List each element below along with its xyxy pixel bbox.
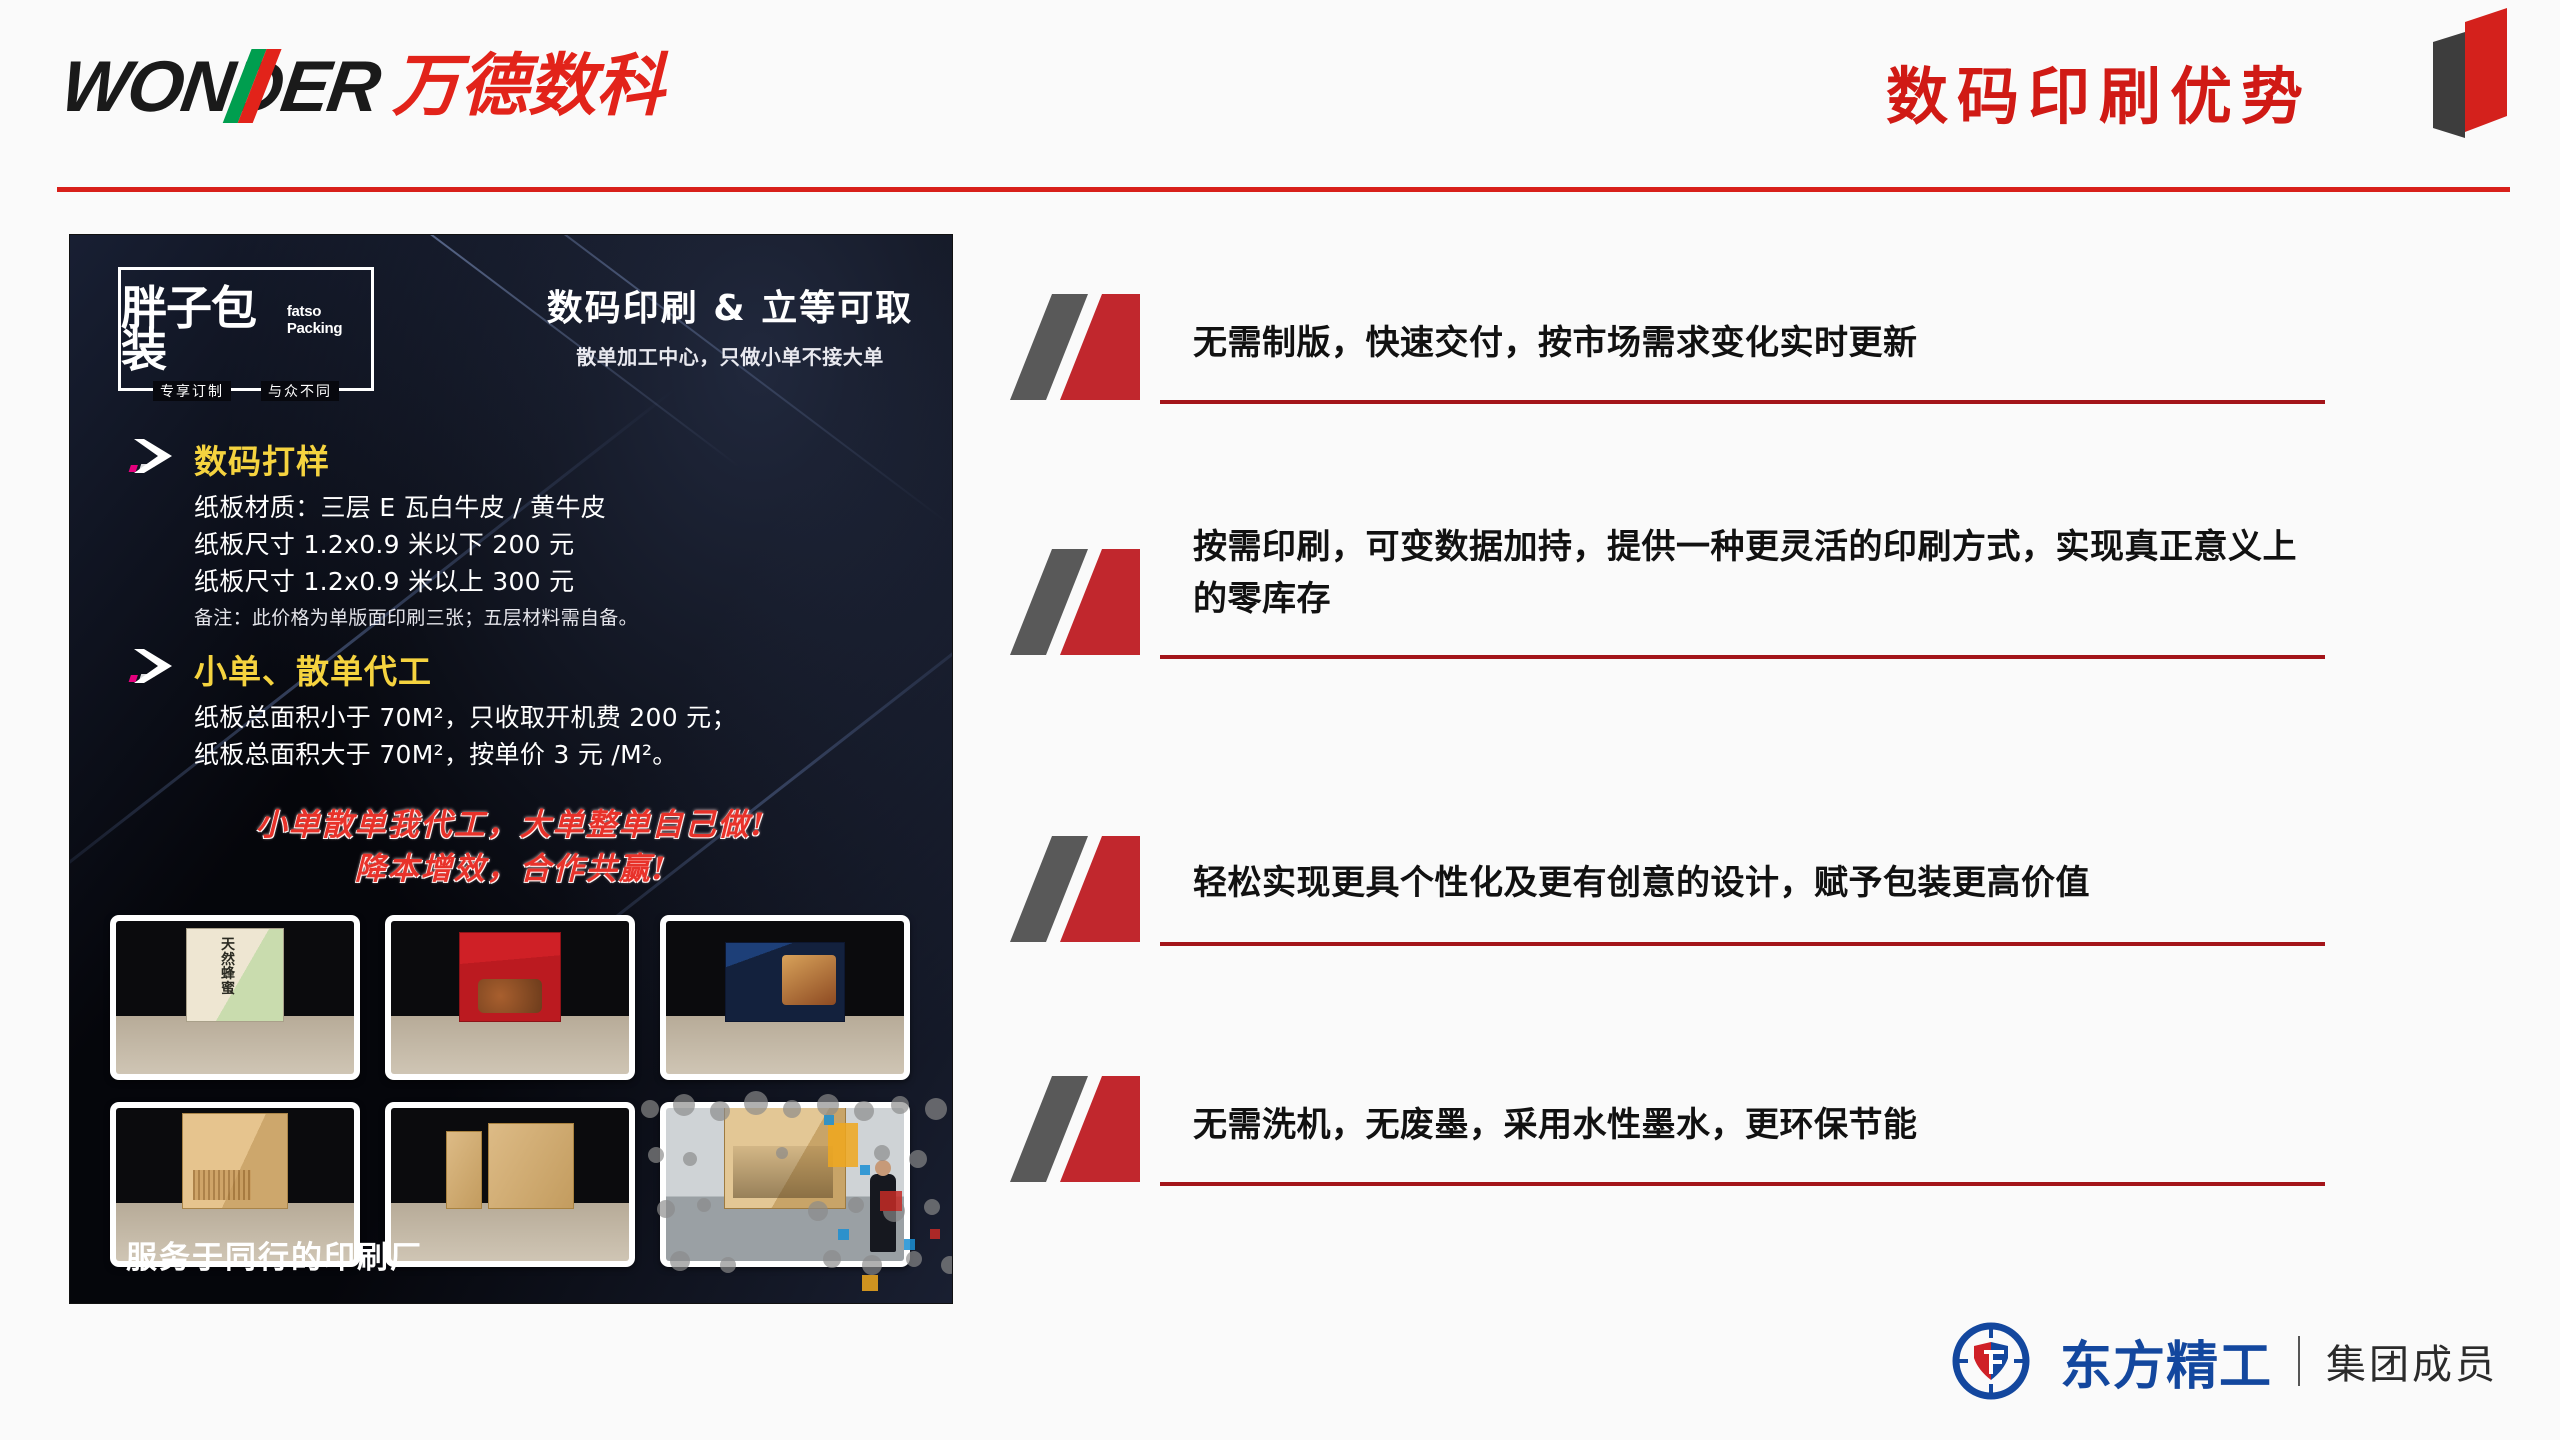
poster-slogan: 小单散单我代工，大单整单自己做! 降本增效，合作共赢! xyxy=(70,803,952,891)
fatso-brand-en: fatso Packing xyxy=(287,303,371,337)
fatso-brand-badge: 胖子包装 fatso Packing 专享订制 与众不同 xyxy=(118,267,374,391)
wonder-text: WONDER xyxy=(56,47,383,127)
poster-section-proofing: 数码打样 纸板材质：三层 E 瓦白牛皮 / 黄牛皮 纸板尺寸 1.2x0.9 米… xyxy=(128,435,928,632)
double-slant-bars-icon xyxy=(1010,288,1195,408)
section-line: 纸板材质：三层 E 瓦白牛皮 / 黄牛皮 xyxy=(194,489,928,526)
footer-company-name: 东方精工 xyxy=(2060,1324,2272,1399)
slogan-line-2: 降本增效，合作共赢! xyxy=(70,847,952,891)
section-note: 备注：此价格为单版面印刷三张；五层材料需自备。 xyxy=(194,604,928,632)
fatso-tag-right: 与众不同 xyxy=(261,381,339,401)
product-photo-honey-gift-box xyxy=(110,915,360,1080)
slide-root: WONDER 万德数科 数码印刷优势 胖子包装 fatso Packing 专享… xyxy=(0,0,2560,1440)
slogan-line-1: 小单散单我代工，大单整单自己做! xyxy=(70,803,952,847)
advantage-text-4: 无需洗机，无废墨，采用水性墨水，更环保节能 xyxy=(1193,1100,2323,1152)
poster-section-oem: 小单、散单代工 纸板总面积小于 70M²，只收取开机费 200 元； 纸板总面积… xyxy=(128,645,928,773)
advantage-underline-4 xyxy=(1160,1182,2325,1186)
footer-membership-label: 集团成员 xyxy=(2326,1332,2498,1390)
poster-headline-block: 数码印刷 & 立等可取 散单加工中心，只做小单不接大单 xyxy=(530,279,930,370)
footer-brand: 东方精工 集团成员 xyxy=(1948,1318,2498,1404)
double-slant-bars-icon xyxy=(1010,1070,1195,1190)
chevron-arrow-icon xyxy=(128,437,180,481)
advantage-underline-1 xyxy=(1160,400,2325,404)
wonder-chinese-name: 万德数科 xyxy=(392,53,664,121)
corner-bookmark-icon xyxy=(2403,6,2513,166)
poster-subheadline: 散单加工中心，只做小单不接大单 xyxy=(530,341,930,370)
product-photo-red-food-gift-box xyxy=(385,915,635,1080)
section-line: 纸板尺寸 1.2x0.9 米以下 200 元 xyxy=(194,526,928,563)
section-title-oem: 小单、散单代工 xyxy=(194,645,432,693)
promo-poster: 胖子包装 fatso Packing 专享订制 与众不同 数码印刷 & 立等可取… xyxy=(70,235,952,1303)
double-slant-bars-icon xyxy=(1010,543,1195,663)
footer-separator xyxy=(2298,1336,2300,1386)
fatso-tag-left: 专享订制 xyxy=(153,381,231,401)
chevron-arrow-icon xyxy=(128,647,180,691)
wonder-wordmark: WONDER xyxy=(57,51,383,123)
advantage-text-1: 无需制版，快速交付，按市场需求变化实时更新 xyxy=(1193,318,2323,370)
product-photo-beef-jerky-carton xyxy=(660,915,910,1080)
advantage-text-2: 按需印刷，可变数据加持，提供一种更灵活的印刷方式，实现真正意义上的零库存 xyxy=(1193,522,2323,625)
double-slant-bars-icon xyxy=(1010,830,1195,950)
section-line: 纸板尺寸 1.2x0.9 米以上 300 元 xyxy=(194,563,928,600)
poster-footer-text: 服务于同行的印刷厂 xyxy=(126,1232,423,1277)
section-line: 纸板总面积小于 70M²，只收取开机费 200 元； xyxy=(194,699,928,736)
advantage-underline-2 xyxy=(1160,655,2325,659)
fatso-brand-cn: 胖子包装 xyxy=(121,287,283,372)
header-divider xyxy=(57,187,2510,192)
brand-logo: WONDER 万德数科 xyxy=(62,52,664,122)
advantage-underline-3 xyxy=(1160,942,2325,946)
section-title-proofing: 数码打样 xyxy=(194,435,330,483)
advantage-text-3: 轻松实现更具个性化及更有创意的设计，赋予包装更高价值 xyxy=(1193,858,2323,910)
halftone-dot-pattern xyxy=(632,1079,952,1303)
poster-headline: 数码印刷 & 立等可取 xyxy=(530,279,930,331)
dongfang-jinggong-logo-icon xyxy=(1948,1318,2034,1404)
section-line: 纸板总面积大于 70M²，按单价 3 元 /M²。 xyxy=(194,736,928,773)
page-title: 数码印刷优势 xyxy=(1886,46,2312,136)
